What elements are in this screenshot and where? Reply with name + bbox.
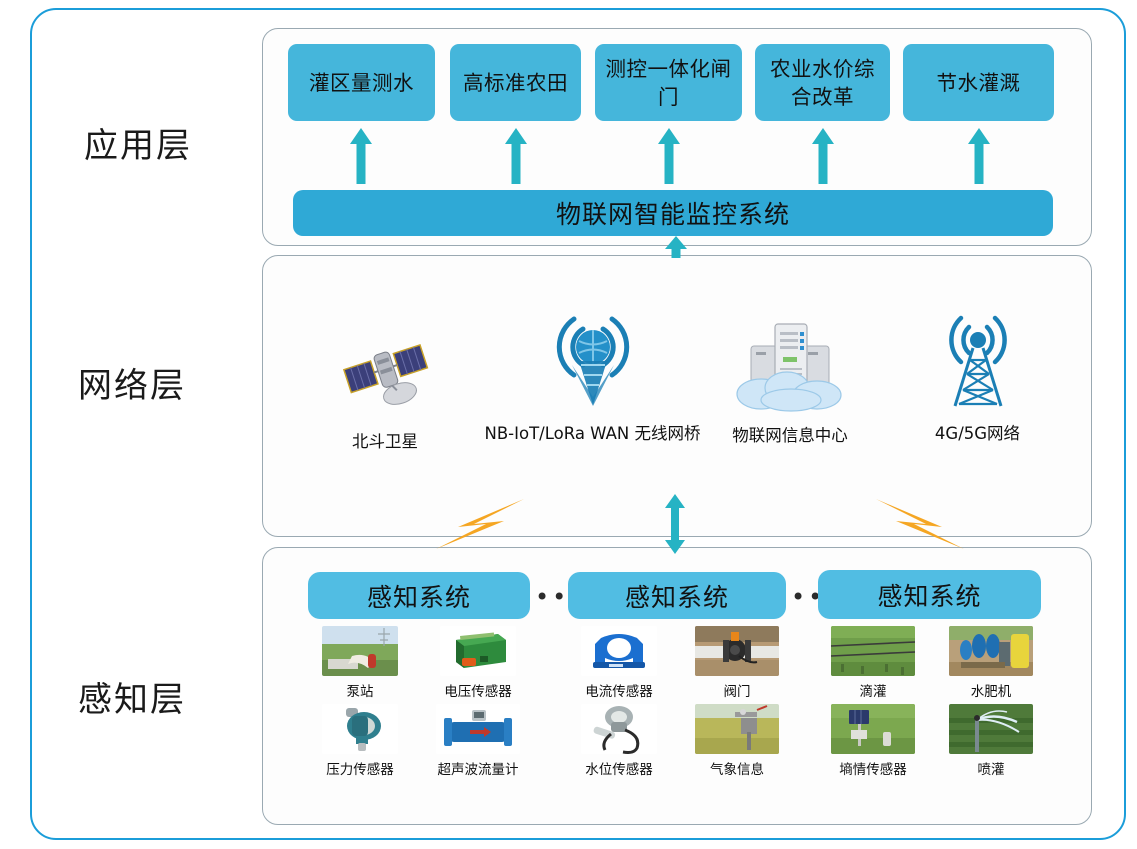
network-item-label: 4G/5G网络 bbox=[890, 420, 1065, 444]
network-item-iot-data-center[interactable]: 物联网信息中心 bbox=[705, 312, 875, 446]
network-item-label: 物联网信息中心 bbox=[705, 422, 875, 446]
layer-caption-network: 网络层 bbox=[78, 358, 186, 407]
sensor-item-fertigation-machine[interactable]: 水肥机 bbox=[936, 626, 1046, 700]
up-arrow-icon-3 bbox=[656, 128, 682, 184]
network-item-beidou-satellite[interactable]: 北斗卫星 bbox=[305, 318, 465, 452]
sensor-label: 压力传感器 bbox=[305, 758, 415, 778]
iot-monitoring-banner[interactable]: 物联网智能监控系统 bbox=[293, 190, 1053, 236]
up-arrow-icon-2 bbox=[503, 128, 529, 184]
drip-irrigation-photo bbox=[831, 626, 915, 676]
pump-station-photo bbox=[322, 626, 398, 676]
sensing-group-3-items: 滴灌 水肥机 bbox=[818, 626, 1046, 778]
lightning-bolt-icon-left bbox=[432, 497, 528, 556]
sensing-system-header-1[interactable]: 感知系统 bbox=[308, 572, 530, 619]
app-card-high-standard-farmland[interactable]: 高标准农田 bbox=[450, 44, 581, 121]
fertigation-machine-photo bbox=[949, 626, 1033, 676]
wireless-bridge-icon bbox=[455, 310, 730, 410]
sensor-label: 喷灌 bbox=[936, 758, 1046, 778]
sensor-label: 水肥机 bbox=[936, 680, 1046, 700]
sensor-label: 水位传感器 bbox=[564, 758, 674, 778]
cloud-server-icon bbox=[705, 312, 875, 412]
sensor-label: 泵站 bbox=[305, 680, 415, 700]
sensor-item-sprinkler-irrigation[interactable]: 喷灌 bbox=[936, 704, 1046, 778]
pressure-sensor-photo bbox=[322, 704, 398, 754]
sensor-item-voltage-sensor[interactable]: 电压传感器 bbox=[423, 626, 533, 700]
up-arrow-icon-4 bbox=[810, 128, 836, 184]
sensing-system-header-3[interactable]: 感知系统 bbox=[818, 570, 1041, 619]
network-item-label: 北斗卫星 bbox=[305, 428, 465, 452]
sensor-item-ultrasonic-flowmeter[interactable]: 超声波流量计 bbox=[423, 704, 533, 778]
voltage-sensor-photo bbox=[440, 626, 516, 676]
lightning-bolt-icon-right bbox=[872, 497, 968, 556]
layer-caption-application: 应用层 bbox=[84, 118, 192, 167]
sensor-item-pump-station[interactable]: 泵站 bbox=[305, 626, 415, 700]
network-item-4g-5g-network[interactable]: 4G/5G网络 bbox=[890, 310, 1065, 444]
sensor-label: 气象信息 bbox=[682, 758, 792, 778]
sprinkler-irrigation-photo bbox=[949, 704, 1033, 754]
sensor-item-soil-moisture-sensor[interactable]: 墒情传感器 bbox=[818, 704, 928, 778]
app-card-integrated-control-gate[interactable]: 测控一体化闸门 bbox=[595, 44, 742, 121]
satellite-icon bbox=[305, 318, 465, 418]
app-card-water-price-reform[interactable]: 农业水价综合改革 bbox=[755, 44, 890, 121]
sensor-item-valve[interactable]: 阀门 bbox=[682, 626, 792, 700]
water-level-sensor-photo bbox=[581, 704, 657, 754]
weather-station-photo bbox=[695, 704, 779, 754]
ultrasonic-flowmeter-photo bbox=[436, 704, 520, 754]
valve-photo bbox=[695, 626, 779, 676]
diagram-root: 应用层 网络层 感知层 灌区量测水 高标准农田 测控一体化闸门 农业水价综合改革… bbox=[0, 0, 1137, 849]
layer-caption-perception: 感知层 bbox=[78, 672, 186, 721]
sensing-system-header-2[interactable]: 感知系统 bbox=[568, 572, 786, 619]
sensor-item-current-sensor[interactable]: 电流传感器 bbox=[564, 626, 674, 700]
double-arrow-icon bbox=[662, 494, 688, 559]
up-arrow-icon-banner bbox=[663, 236, 689, 258]
up-arrow-icon-1 bbox=[348, 128, 374, 184]
sensor-item-weather-information[interactable]: 气象信息 bbox=[682, 704, 792, 778]
sensor-label: 电流传感器 bbox=[564, 680, 674, 700]
sensor-label: 阀门 bbox=[682, 680, 792, 700]
network-item-label: NB-IoT/LoRa WAN 无线网桥 bbox=[455, 420, 730, 444]
sensor-item-drip-irrigation[interactable]: 滴灌 bbox=[818, 626, 928, 700]
network-item-wireless-bridge[interactable]: NB-IoT/LoRa WAN 无线网桥 bbox=[455, 310, 730, 444]
app-card-water-saving-irrigation[interactable]: 节水灌溉 bbox=[903, 44, 1054, 121]
sensor-label: 超声波流量计 bbox=[423, 758, 533, 778]
soil-moisture-sensor-photo bbox=[831, 704, 915, 754]
app-card-irrigation-metering[interactable]: 灌区量测水 bbox=[288, 44, 435, 121]
sensing-group-1-items: 泵站 电压传感器 bbox=[305, 626, 533, 778]
up-arrow-icon-5 bbox=[966, 128, 992, 184]
cell-tower-icon bbox=[890, 310, 1065, 410]
sensing-group-2-items: 电流传感器 阀门 bbox=[564, 626, 792, 778]
current-sensor-photo bbox=[581, 626, 657, 676]
sensor-label: 墒情传感器 bbox=[818, 758, 928, 778]
sensor-item-pressure-sensor[interactable]: 压力传感器 bbox=[305, 704, 415, 778]
sensor-item-water-level-sensor[interactable]: 水位传感器 bbox=[564, 704, 674, 778]
sensor-label: 滴灌 bbox=[818, 680, 928, 700]
sensor-label: 电压传感器 bbox=[423, 680, 533, 700]
